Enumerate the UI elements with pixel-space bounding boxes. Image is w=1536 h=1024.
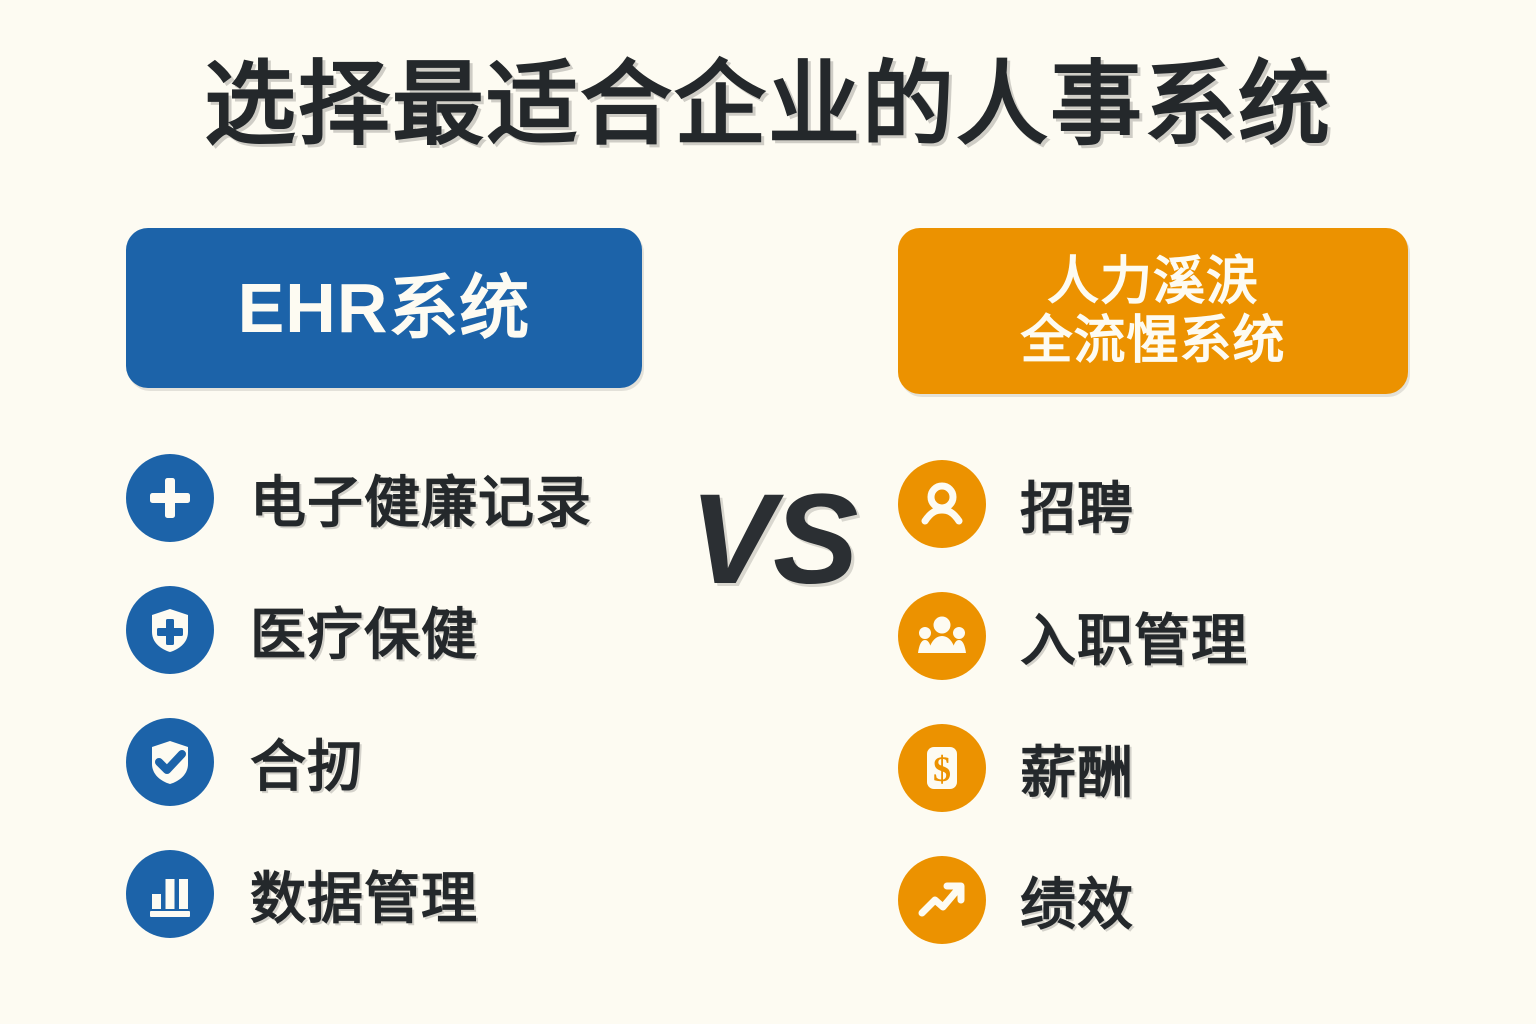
list-item-label: 电子健廉记录 xyxy=(250,458,592,539)
comparison-column-hr: 人力溪涙 全流惺系统 招聘 xyxy=(898,228,1458,982)
list-item-label: 合扨 xyxy=(250,722,364,803)
list-item[interactable]: $ 薪酬 xyxy=(898,702,1458,834)
list-item[interactable]: 数据管理 xyxy=(126,828,686,960)
list-item-label: 薪酬 xyxy=(1020,728,1134,809)
vs-divider: VS xyxy=(668,466,878,613)
list-item[interactable]: 合扨 xyxy=(126,696,686,828)
page-title: 选择最适合企业的人事系统 xyxy=(0,56,1536,155)
list-item-label: 招聘 xyxy=(1020,464,1134,545)
list-item[interactable]: 入职管理 xyxy=(898,570,1458,702)
user-icon xyxy=(898,460,986,548)
list-item[interactable]: 绩效 xyxy=(898,834,1458,966)
badge-ehr-label: EHR系统 xyxy=(238,273,531,343)
badge-hr-label-line2: 全流惺系统 xyxy=(1020,312,1285,371)
feature-list-hr: 招聘 入职管理 $ 薪酬 xyxy=(898,438,1458,966)
badge-ehr: EHR系统 xyxy=(126,228,642,388)
comparison-column-ehr: EHR系统 电子健廉记录 医疗保健 xyxy=(126,228,686,976)
users-group-icon xyxy=(898,592,986,680)
svg-text:$: $ xyxy=(933,749,951,789)
list-item-label: 入职管理 xyxy=(1020,596,1248,677)
list-item-label: 数据管理 xyxy=(250,854,478,935)
feature-list-ehr: 电子健廉记录 医疗保健 合扨 xyxy=(126,432,686,960)
list-item[interactable]: 医疗保健 xyxy=(126,564,686,696)
shield-check-icon xyxy=(126,718,214,806)
trending-up-icon xyxy=(898,856,986,944)
list-item[interactable]: 电子健廉记录 xyxy=(126,432,686,564)
list-item-label: 绩效 xyxy=(1020,860,1134,941)
shield-plus-icon xyxy=(126,586,214,674)
plus-circle-icon xyxy=(126,454,214,542)
badge-hr-label-line1: 人力溪涙 xyxy=(1047,253,1259,312)
badge-hr: 人力溪涙 全流惺系统 xyxy=(898,228,1408,394)
list-item-label: 医疗保健 xyxy=(250,590,478,671)
list-item[interactable]: 招聘 xyxy=(898,438,1458,570)
bar-chart-icon xyxy=(126,850,214,938)
dollar-card-icon: $ xyxy=(898,724,986,812)
